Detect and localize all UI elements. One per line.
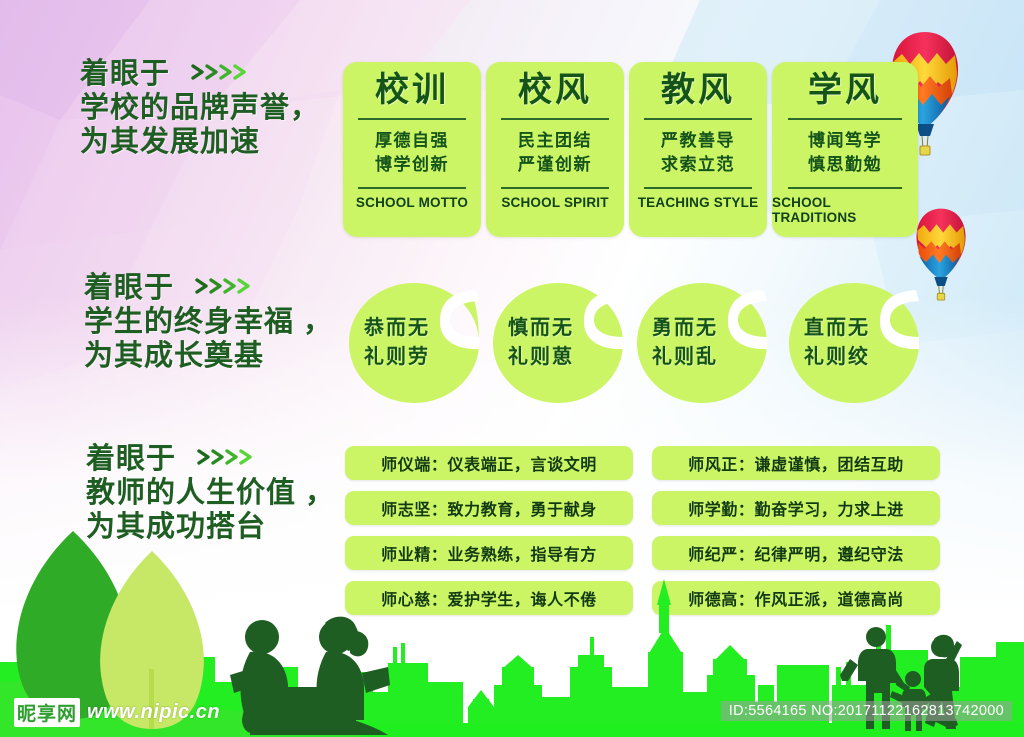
blob-line2: 礼则绞: [804, 343, 920, 372]
blob-gong-er-wu-li[interactable]: 恭而无 礼则劳: [348, 282, 480, 404]
card-english: TEACHING STYLE: [638, 195, 759, 210]
divider: [644, 118, 752, 120]
heading-students: 着眼于 学生的终身幸福 ， 为其成长奠基: [84, 272, 333, 374]
divider: [644, 187, 752, 189]
card-school-motto[interactable]: 校训 厚德自强 博学创新 SCHOOL MOTTO: [343, 62, 481, 237]
card-line2: 严谨创新: [518, 155, 592, 174]
card-title: 校训: [375, 73, 449, 109]
divider: [501, 118, 609, 120]
card-english: SCHOOL SPIRIT: [501, 195, 608, 210]
divider: [358, 118, 466, 120]
heading-students-line2: 学生的终身幸福 ，: [84, 306, 333, 340]
card-school-traditions[interactable]: 学风 博闻笃学 慎思勤勉 SCHOOL TRADITIONS: [772, 62, 918, 237]
heading-teachers-line2: 教师的人生价值 ，: [86, 477, 335, 511]
blob-line2: 礼则乱: [652, 343, 768, 372]
blob-line1: 慎而无: [508, 314, 624, 343]
card-title: 校风: [518, 73, 592, 109]
card-line2: 慎思勤勉: [808, 155, 882, 174]
heading-brand-line2: 学校的品牌声誉，: [80, 92, 320, 126]
card-teaching-style[interactable]: 教风 严教善导 求索立范 TEACHING STYLE: [629, 62, 767, 237]
card-school-spirit[interactable]: 校风 民主团结 严谨创新 SCHOOL SPIRIT: [486, 62, 624, 237]
pill-label: 师风正：谦虚谨慎，团结互助: [688, 451, 904, 475]
heading-brand: 着眼于 学校的品牌声誉， 为其发展加速: [80, 58, 320, 160]
divider: [788, 187, 902, 189]
heading-brand-line3: 为其发展加速: [80, 126, 320, 160]
card-english: SCHOOL MOTTO: [356, 195, 468, 210]
heading-brand-line1: 着眼于: [80, 58, 170, 92]
heading-students-line3: 为其成长奠基: [84, 340, 333, 374]
card-title: 学风: [808, 73, 882, 109]
blob-zhi-er-wu-li[interactable]: 直而无 礼则绞: [788, 282, 920, 404]
blob-line1: 勇而无: [652, 314, 768, 343]
chevrons-right-icon: [193, 276, 257, 302]
watermark-id: ID:5564165 NO:20171122162813742000: [721, 701, 1012, 721]
hot-air-balloon-icon: [915, 205, 967, 303]
chevrons-right-icon: [195, 447, 259, 473]
watermark-url: www.nipic.cn: [87, 701, 220, 724]
blob-line1: 恭而无: [364, 314, 480, 343]
blob-yong-er-wu-li[interactable]: 勇而无 礼则乱: [636, 282, 768, 404]
pill-label: 师仪端：仪表端正，言谈文明: [381, 451, 597, 475]
card-line1: 博闻笃学: [808, 131, 882, 150]
pill-shi-yi-duan[interactable]: 师仪端：仪表端正，言谈文明: [345, 446, 633, 480]
card-english: SCHOOL TRADITIONS: [772, 195, 918, 225]
heading-teachers-line1: 着眼于: [86, 443, 176, 477]
poster-canvas: 着眼于 学校的品牌声誉， 为其发展加速 校训 厚德自强 博学创新 SCHOOL …: [0, 0, 1024, 737]
students-reading-silhouette-icon: [190, 615, 405, 735]
divider: [501, 187, 609, 189]
watermark-logo-text: 昵享网: [14, 698, 80, 727]
card-line2: 求索立范: [661, 155, 735, 174]
blob-line1: 直而无: [804, 314, 920, 343]
card-line1: 民主团结: [518, 131, 592, 150]
watermark-logo: 昵享网 www.nipic.cn: [14, 698, 220, 727]
card-line1: 严教善导: [661, 131, 735, 150]
pill-shi-feng-zheng[interactable]: 师风正：谦虚谨慎，团结互助: [652, 446, 940, 480]
heading-students-line1: 着眼于: [84, 272, 174, 306]
divider: [788, 118, 902, 120]
blob-shen-er-wu-li[interactable]: 慎而无 礼则葸: [492, 282, 624, 404]
blob-line2: 礼则劳: [364, 343, 480, 372]
divider: [358, 187, 466, 189]
card-line1: 厚德自强: [375, 131, 449, 150]
card-line2: 博学创新: [375, 155, 449, 174]
card-title: 教风: [661, 73, 735, 109]
chevrons-right-icon: [189, 62, 253, 88]
blob-line2: 礼则葸: [508, 343, 624, 372]
